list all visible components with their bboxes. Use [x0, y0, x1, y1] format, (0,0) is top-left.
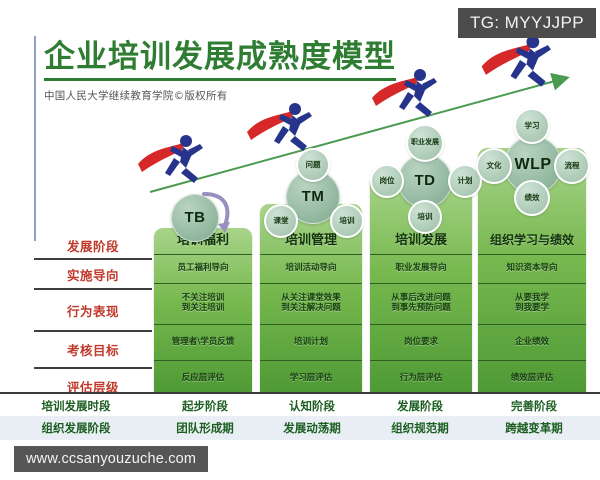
- column-td-evaluation: 行为层评估: [370, 361, 472, 392]
- period-tm: 认知阶段: [258, 394, 366, 418]
- column-tb-behavior: 不关注培训 到关注培训: [154, 284, 252, 325]
- row-label-target: 考核目标: [34, 332, 152, 369]
- row-label-stage: 发展阶段: [34, 232, 152, 260]
- period-tb: 起步阶段: [152, 394, 258, 418]
- bubble-td-top-label: 职业发展: [411, 139, 439, 146]
- bubble-tm-top: 问题: [296, 148, 330, 182]
- bubble-wlp-left: 文化: [476, 148, 512, 184]
- row-period: 培训发展时段 起步阶段 认知阶段 发展阶段 完善阶段: [0, 392, 600, 418]
- org-stage-tm: 发展动荡期: [258, 416, 366, 440]
- period-wlp: 完善阶段: [474, 394, 594, 418]
- column-td-behavior: 从事后改进问题 到事先预防问题: [370, 284, 472, 325]
- column-wlp-evaluation: 绩效层评估: [478, 361, 586, 392]
- bubble-td-left: 岗位: [370, 164, 404, 198]
- column-tm-behavior: 从关注课堂效果 到关注解决问题: [260, 284, 362, 325]
- row-label-org-stage: 组织发展阶段: [0, 416, 152, 440]
- site-watermark: www.ccsanyouzuche.com: [14, 446, 208, 472]
- column-wlp-behavior-line2: 到我要学: [515, 304, 549, 314]
- bubble-td-bottom: 培训: [408, 200, 442, 234]
- bubble-tm-right: 培训: [330, 204, 364, 238]
- runner-figure-2: [245, 96, 319, 156]
- org-stage-td: 组织规范期: [366, 416, 474, 440]
- bubble-wlp-bottom: 绩效: [514, 180, 550, 216]
- column-tb-orientation: 员工福利导向: [154, 255, 252, 284]
- bubble-wlp-top: 学习: [514, 108, 550, 144]
- org-stage-tb: 团队形成期: [152, 416, 258, 440]
- column-wlp-header: 组织学习与绩效: [478, 228, 586, 255]
- column-tm-target: 培训计划: [260, 325, 362, 361]
- period-td: 发展阶段: [366, 394, 474, 418]
- column-td-orientation: 职业发展导向: [370, 255, 472, 284]
- column-wlp-behavior: 从要我学 到我要学: [478, 284, 586, 325]
- column-tm-behavior-line2: 到关注解决问题: [281, 304, 341, 314]
- stage-bubbles-tm: TM 问题 课堂 培训: [258, 148, 368, 244]
- stage-bubbles-wlp: WLP 学习 文化 流程 绩效: [470, 106, 594, 212]
- row-labels: 发展阶段 实施导向 行为表现 考核目标 评估层级: [34, 232, 152, 404]
- column-wlp-target: 企业绩效: [478, 325, 586, 361]
- column-td-target: 岗位要求: [370, 325, 472, 361]
- row-org-stage: 组织发展阶段 团队形成期 发展动荡期 组织规范期 跨越变革期: [0, 416, 600, 440]
- page-title: 企业培训发展成熟度模型: [44, 40, 396, 81]
- bubble-td-top: 职业发展: [406, 124, 444, 162]
- copyright-subtitle: 中国人民大学继续教育学院©版权所有: [44, 88, 396, 103]
- row-label-orientation: 实施导向: [34, 260, 152, 290]
- infographic-canvas: 企业培训发展成熟度模型 中国人民大学继续教育学院©版权所有 TB TM 问题 课…: [0, 0, 600, 480]
- org-stage-wlp: 跨越变革期: [474, 416, 594, 440]
- stage-code-tb: TB: [171, 194, 219, 242]
- title-block: 企业培训发展成熟度模型 中国人民大学继续教育学院©版权所有: [44, 40, 396, 103]
- tg-badge: TG: MYYJJPP: [458, 8, 596, 38]
- column-tb[interactable]: 培训福利 员工福利导向 不关注培训 到关注培训 管理者\学员反馈 反应层评估: [154, 228, 252, 392]
- bubble-wlp-right: 流程: [554, 148, 590, 184]
- column-tb-behavior-line2: 到关注培训: [182, 304, 225, 314]
- column-tb-evaluation: 反应层评估: [154, 361, 252, 392]
- row-label-period: 培训发展时段: [0, 394, 152, 418]
- column-tm-evaluation: 学习层评估: [260, 361, 362, 392]
- stage-bubbles-td: TD 职业发展 岗位 计划 培训: [368, 120, 482, 232]
- column-tb-target: 管理者\学员反馈: [154, 325, 252, 361]
- stage-bubbles-tb: TB: [155, 186, 245, 242]
- column-td-behavior-line2: 到事先预防问题: [391, 304, 451, 314]
- row-label-behavior: 行为表现: [34, 290, 152, 332]
- runner-figure-1: [136, 128, 210, 188]
- column-wlp-orientation: 知识资本导向: [478, 255, 586, 284]
- bubble-tm-left: 课堂: [264, 204, 298, 238]
- column-tm-orientation: 培训活动导向: [260, 255, 362, 284]
